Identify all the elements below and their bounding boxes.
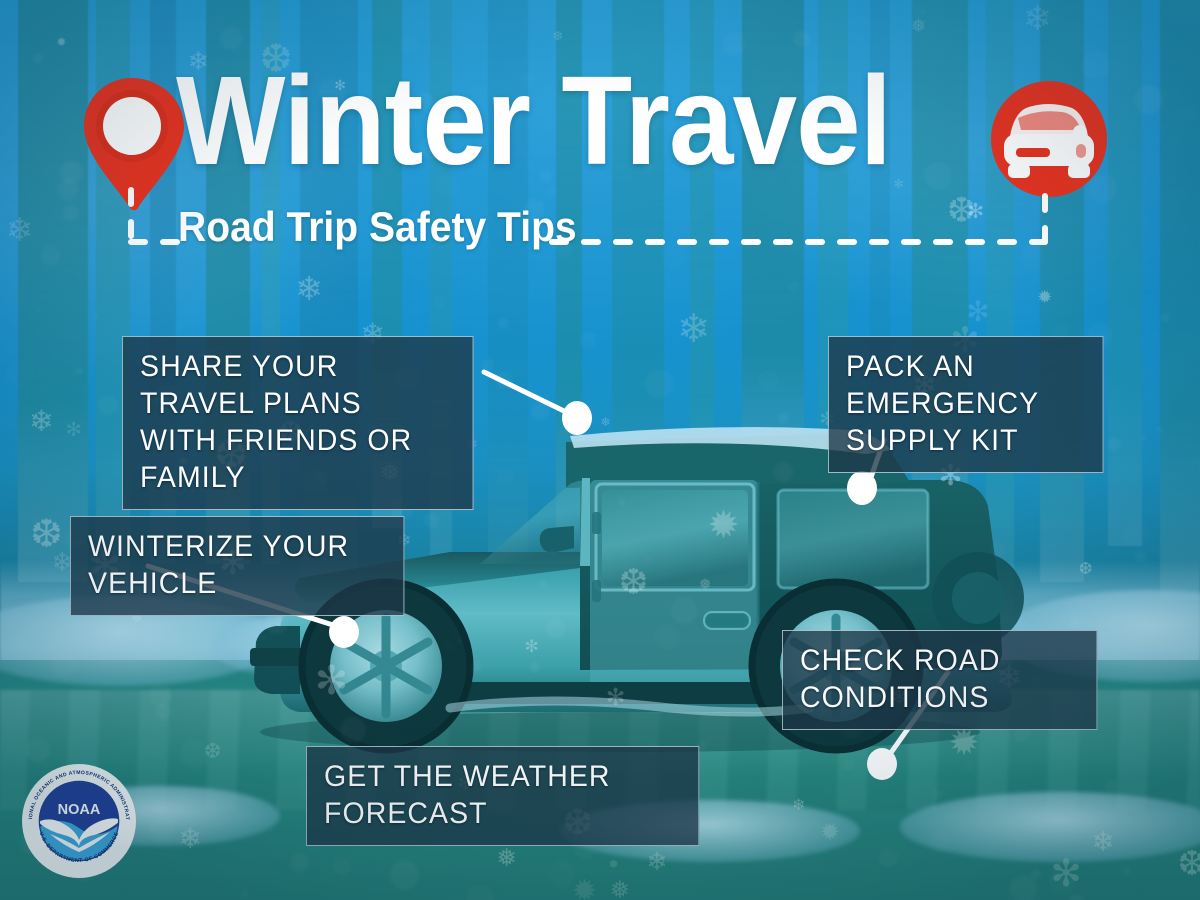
noaa-seal: NOAA NATIONAL OCEANIC AND ATMOSPHERIC AD… <box>20 762 138 880</box>
poster-header: Winter Travel Road Trip Safety Tips <box>0 0 1200 270</box>
winter-travel-infographic: ❄❆✻❆❄✻✹❆✹❄❄❆❅❅❅❄❆❅❅❄❆✹❅❆✻✻✹❄❄❄❆✹✻✻✻✻❅✻✻✻… <box>0 0 1200 900</box>
callout-share-travel-plans[interactable]: Share your travel plans with friends or … <box>122 336 474 510</box>
page-title: Winter Travel <box>176 58 891 184</box>
car-front-icon <box>988 78 1110 200</box>
noaa-acronym: NOAA <box>58 802 101 818</box>
callout-check-road-conditions[interactable]: Check road conditions <box>782 630 1097 730</box>
callout-winterize-vehicle[interactable]: Winterize your vehicle <box>70 516 404 616</box>
callout-pack-emergency-kit[interactable]: Pack an emergency supply kit <box>828 336 1104 473</box>
callout-get-weather-forecast[interactable]: Get the weather forecast <box>306 746 699 846</box>
map-pin-icon <box>78 76 186 212</box>
page-subtitle: Road Trip Safety Tips <box>178 206 577 248</box>
